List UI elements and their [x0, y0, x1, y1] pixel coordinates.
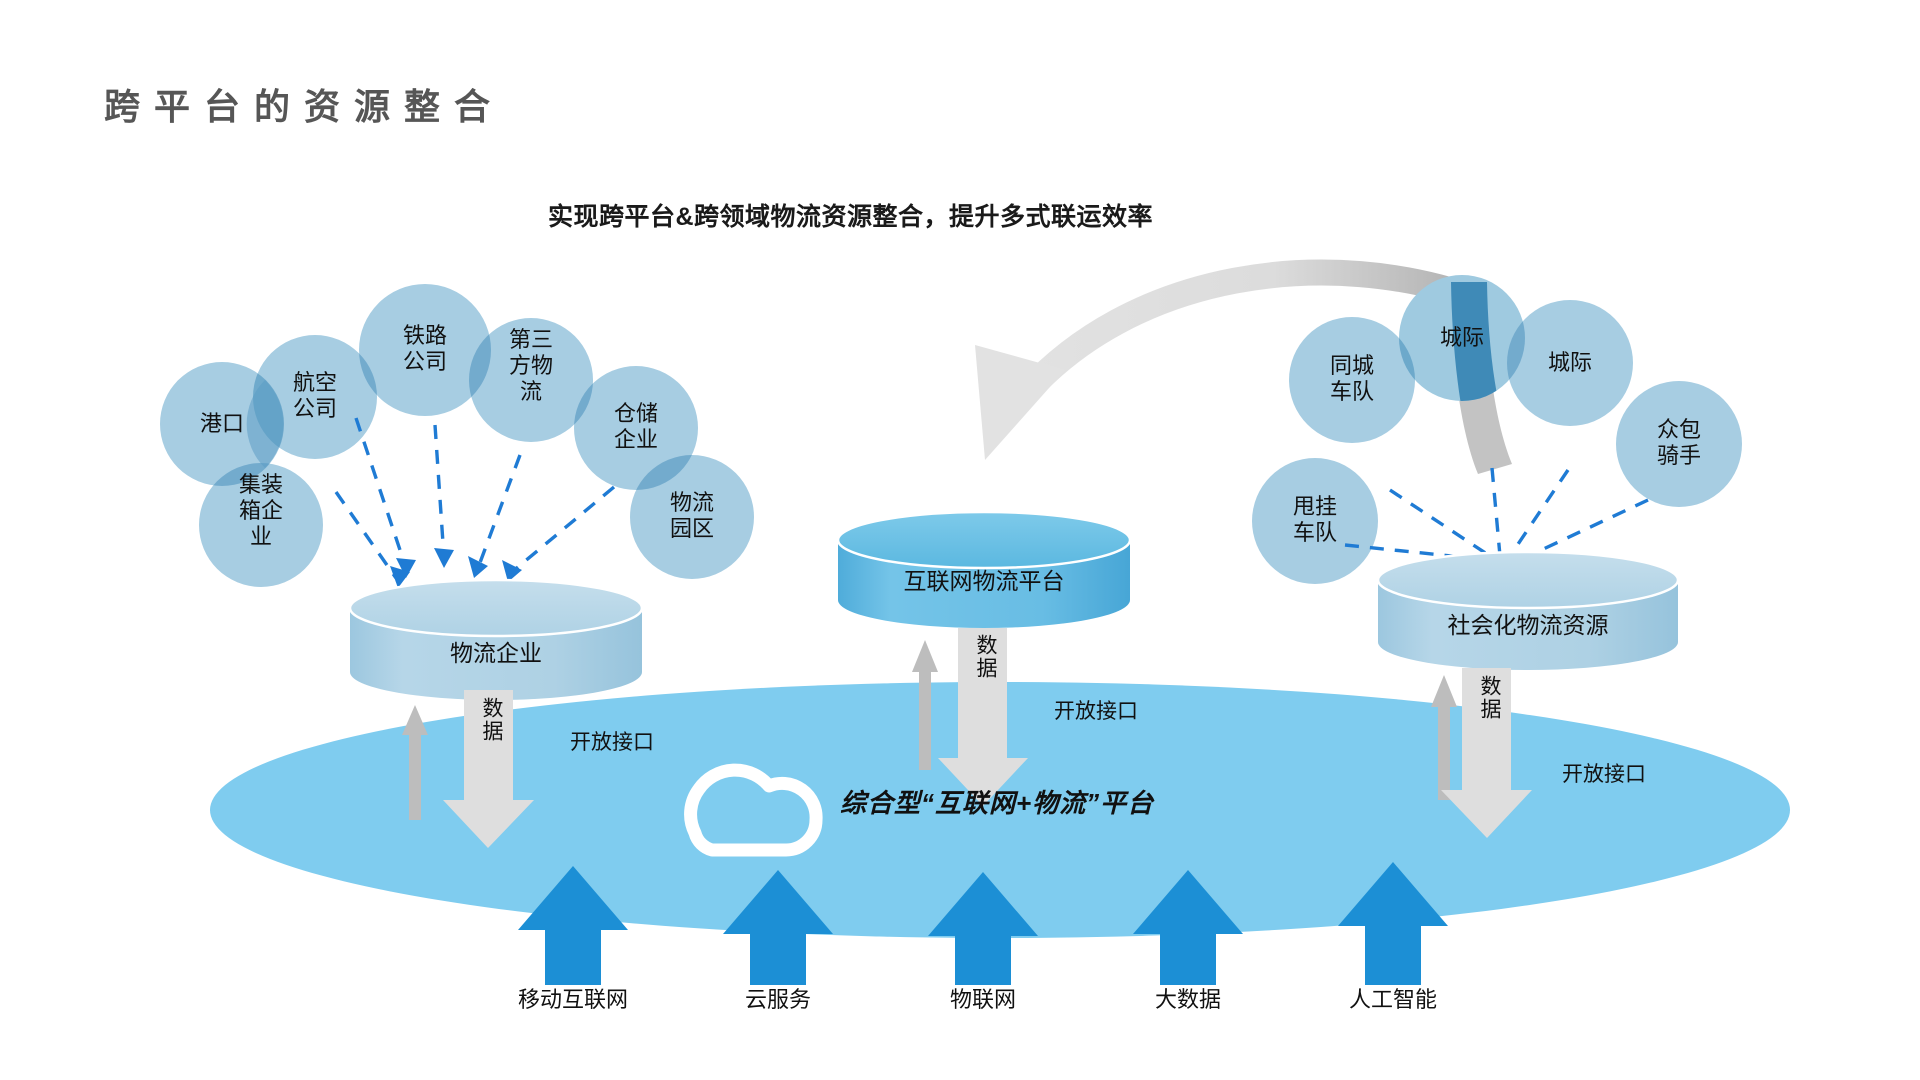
pillar-label-4[interactable]: 人工智能	[1303, 982, 1483, 1014]
pillar-label-2[interactable]: 物联网	[893, 982, 1073, 1014]
api-label-right: 开放接口	[1562, 758, 1646, 788]
cylinder-label-center[interactable]: 互联网物流平台	[854, 562, 1114, 596]
pillar-label-0[interactable]: 移动互联网	[483, 982, 663, 1014]
pillar-label-3[interactable]: 大数据	[1098, 982, 1278, 1014]
data-label-center: 数据	[972, 634, 999, 680]
api-label-left: 开放接口	[570, 726, 654, 756]
api-label-center: 开放接口	[1054, 695, 1138, 725]
right-dashed-arrows	[1345, 468, 1648, 560]
data-label-right: 数据	[1476, 675, 1503, 721]
slide-canvas: 跨平台的资源整合 实现跨平台&跨领域物流资源整合，提升多式联运效率	[0, 0, 1920, 1080]
pillar-label-1[interactable]: 云服务	[688, 982, 868, 1014]
platform-title: 综合型“互联网+物流”平台	[840, 783, 1154, 820]
left-dashed-arrows	[336, 418, 614, 578]
diagram-artwork	[0, 0, 1920, 1080]
cylinder-label-left[interactable]: 物流企业	[396, 634, 596, 668]
left-cluster-circles	[160, 284, 754, 587]
cylinder-label-right[interactable]: 社会化物流资源	[1398, 606, 1658, 640]
data-label-left: 数据	[478, 697, 505, 743]
